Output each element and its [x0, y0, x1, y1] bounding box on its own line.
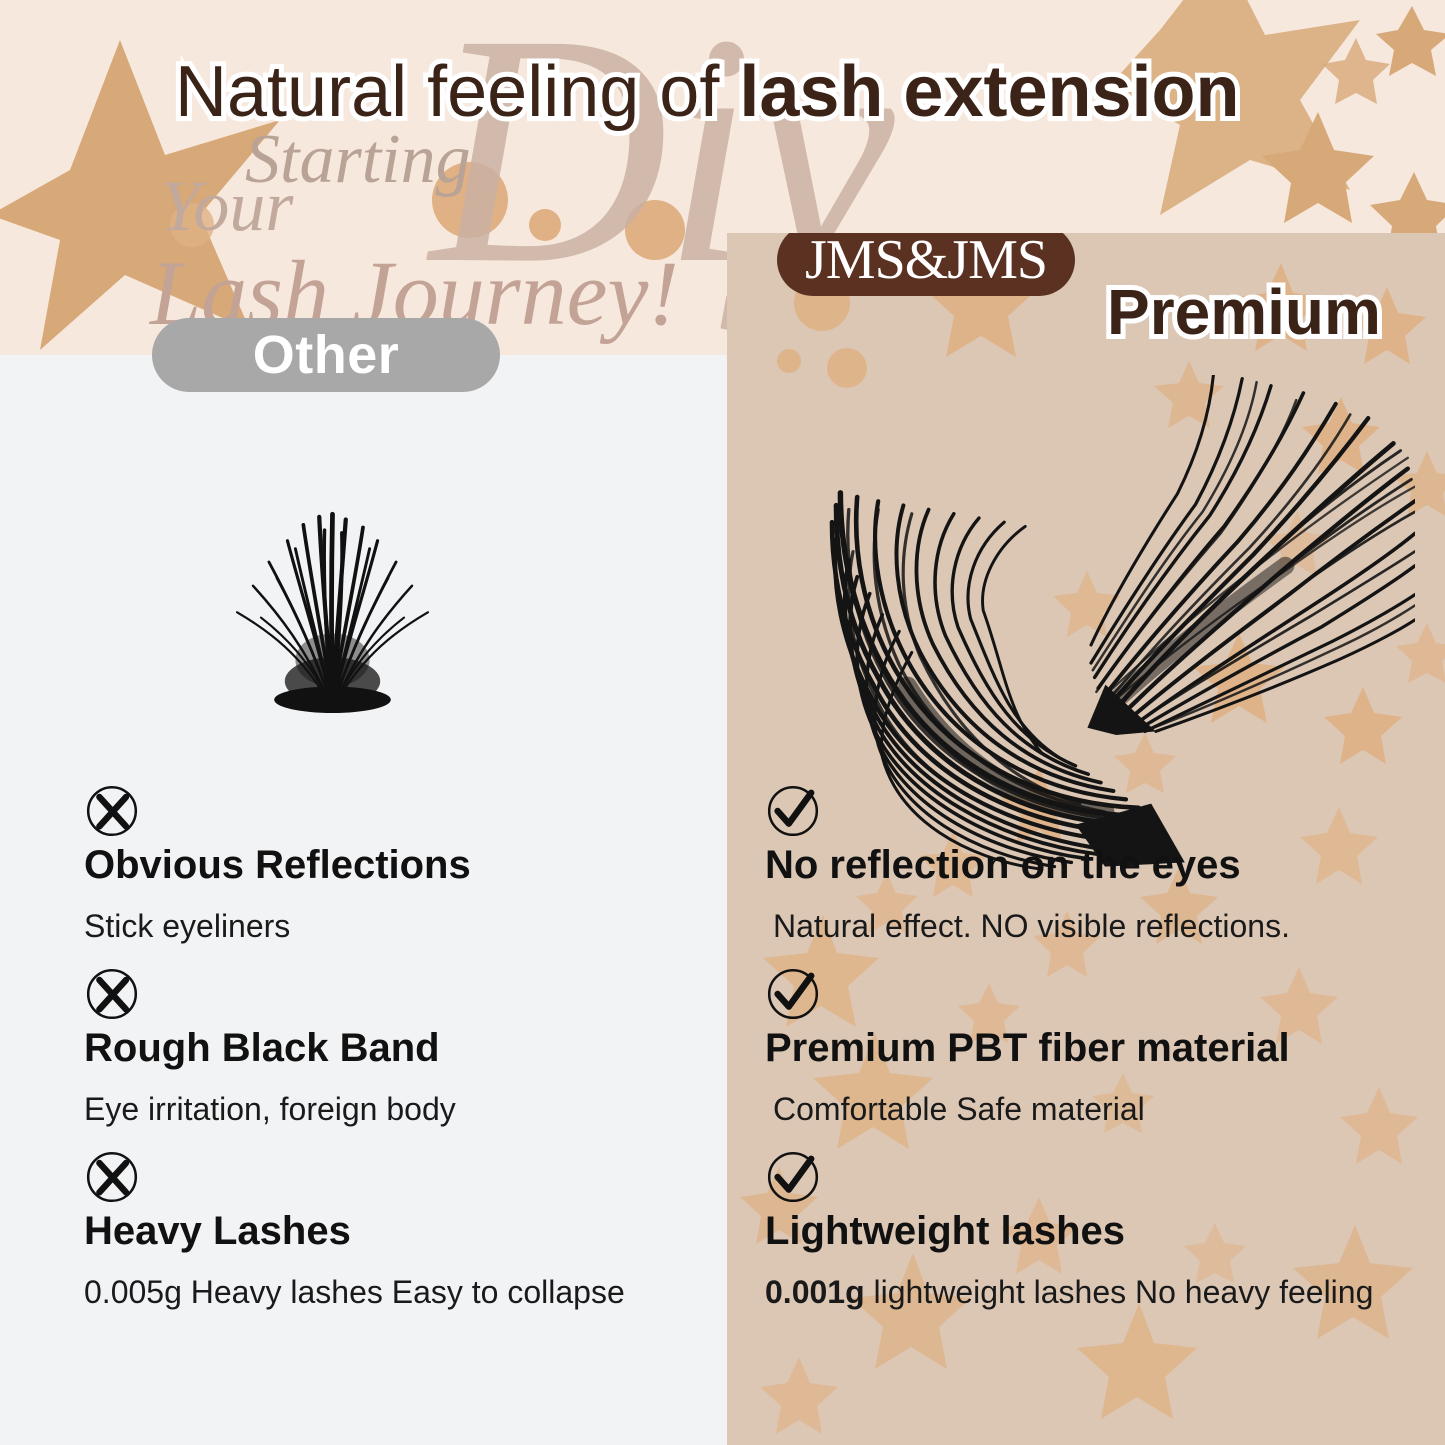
feature-item: Heavy Lashes 0.005g Heavy lashes Easy to…: [84, 1149, 704, 1310]
x-mark-circle-icon: [84, 966, 140, 1022]
badge-other: Other: [152, 318, 500, 392]
feature-subtitle: Stick eyeliners: [84, 909, 704, 944]
feature-title: No reflection on the eyes: [765, 843, 1435, 887]
feature-title: Premium PBT fiber material: [765, 1026, 1435, 1070]
feature-title: Rough Black Band: [84, 1026, 704, 1070]
feature-item: Premium PBT fiber material Comfortable S…: [765, 966, 1435, 1127]
feature-item: No reflection on the eyes Natural effect…: [765, 783, 1435, 944]
feature-title: Lightweight lashes: [765, 1209, 1435, 1253]
feature-subtitle: Natural effect. NO visible reflections.: [765, 909, 1435, 944]
page-title-plain: Natural feeling of: [175, 52, 739, 132]
check-mark-circle-icon: [765, 1149, 821, 1205]
feature-subtitle-rest: lightweight lashes No heavy feeling: [865, 1274, 1374, 1310]
feature-item: Obvious Reflections Stick eyeliners: [84, 783, 704, 944]
check-mark-circle-icon: [765, 783, 821, 839]
feature-subtitle: Comfortable Safe material: [765, 1092, 1435, 1127]
left-feature-list: Obvious Reflections Stick eyeliners Roug…: [84, 783, 704, 1333]
brand-logo-jms: JMS&JMS: [777, 233, 1075, 296]
feature-item: Rough Black Band Eye irritation, foreign…: [84, 966, 704, 1127]
feature-subtitle: 0.005g Heavy lashes Easy to collapse: [84, 1275, 704, 1310]
x-mark-circle-icon: [84, 1149, 140, 1205]
page-title: Natural feeling of lash extension: [175, 56, 1240, 128]
infographic-root: Diy Starting Your Lash Journey! Natural …: [0, 0, 1445, 1445]
feature-subtitle: Eye irritation, foreign body: [84, 1092, 704, 1127]
feature-title: Heavy Lashes: [84, 1209, 704, 1253]
page-title-bold: lash extension: [739, 52, 1239, 132]
dense-lash-cluster-icon: [200, 448, 465, 713]
x-mark-circle-icon: [84, 783, 140, 839]
feature-title: Obvious Reflections: [84, 843, 704, 887]
right-feature-list: No reflection on the eyes Natural effect…: [765, 783, 1435, 1333]
check-mark-circle-icon: [765, 966, 821, 1022]
feature-subtitle: 0.001g lightweight lashes No heavy feeli…: [765, 1275, 1435, 1310]
premium-badge: Premium: [1107, 275, 1381, 349]
feature-item: Lightweight lashes 0.001g lightweight la…: [765, 1149, 1435, 1310]
curved-lash-fan-icon: [1055, 375, 1415, 735]
feature-subtitle-weight: 0.001g: [765, 1274, 865, 1310]
